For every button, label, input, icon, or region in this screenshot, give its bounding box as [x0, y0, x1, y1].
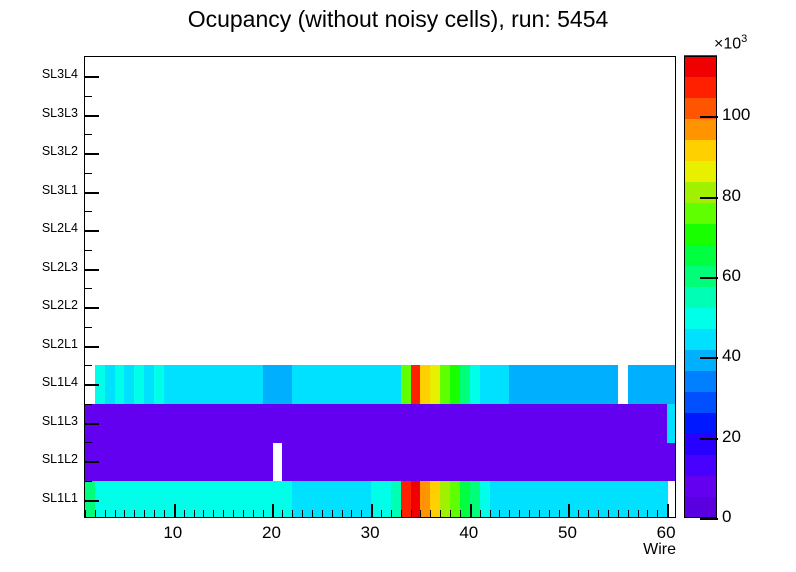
- y-axis-label-sl2l4: SL2L4: [42, 221, 78, 235]
- y-axis-label-sl1l1: SL1L1: [42, 491, 78, 505]
- heatmap-cell: [184, 442, 194, 481]
- heatmap-cell: [144, 442, 154, 481]
- x-axis-tick-minor: [223, 510, 224, 517]
- y-axis-label-sl3l2: SL3L2: [42, 144, 78, 158]
- heatmap-cell: [203, 442, 213, 481]
- heatmap-cell: [312, 481, 322, 519]
- heatmap-cell: [164, 404, 174, 443]
- heatmap-cell: [401, 481, 411, 519]
- x-axis-tick-minor: [440, 510, 441, 517]
- heatmap-cell: [480, 404, 490, 443]
- color-scale-tick-label: 20: [722, 427, 741, 447]
- heatmap-cell: [351, 481, 361, 519]
- heatmap-cell: [568, 404, 578, 443]
- x-axis-tick-minor: [460, 510, 461, 517]
- heatmap-cell: [223, 442, 233, 481]
- heatmap-cell: [105, 404, 115, 443]
- x-axis-tick-minor: [559, 510, 560, 517]
- x-axis-tick-minor: [529, 510, 530, 517]
- y-axis-tick: [85, 269, 99, 271]
- y-axis-tick-minor: [85, 250, 92, 251]
- x-axis-tick-minor: [312, 510, 313, 517]
- x-axis-tick-minor: [598, 510, 599, 517]
- heatmap-cell: [460, 442, 470, 481]
- x-axis-tick-major: [470, 504, 472, 517]
- heatmap-cell: [105, 481, 115, 519]
- x-axis-tick-label: 20: [246, 523, 296, 543]
- heatmap-cell: [440, 481, 450, 519]
- heatmap-cell: [332, 442, 342, 481]
- color-scale-band: [684, 433, 717, 455]
- heatmap-cell: [332, 365, 342, 404]
- x-axis-tick-minor: [95, 510, 96, 517]
- color-scale-band: [684, 223, 717, 245]
- x-axis-tick-minor: [647, 510, 648, 517]
- heatmap-cell: [460, 481, 470, 519]
- y-axis-tick: [85, 192, 99, 194]
- heatmap-cells: [85, 57, 675, 517]
- heatmap-cell: [667, 442, 676, 481]
- heatmap-cell: [351, 442, 361, 481]
- heatmap-cell: [164, 365, 174, 404]
- y-axis-label-sl2l2: SL2L2: [42, 298, 78, 312]
- x-axis-tick-label: 40: [444, 523, 494, 543]
- heatmap-cell: [371, 365, 381, 404]
- x-axis-tick-minor: [430, 510, 431, 517]
- color-scale-band: [684, 349, 717, 371]
- heatmap-cell: [519, 442, 529, 481]
- heatmap-cell: [568, 442, 578, 481]
- heatmap-cell: [144, 481, 154, 519]
- heatmap-cell: [608, 442, 618, 481]
- heatmap-cell: [203, 365, 213, 404]
- y-axis-tick-minor: [85, 288, 92, 289]
- y-axis-label-sl3l4: SL3L4: [42, 67, 78, 81]
- x-axis-tick-major: [174, 504, 176, 517]
- x-axis-tick-minor: [608, 510, 609, 517]
- x-axis-tick-label: 30: [345, 523, 395, 543]
- color-scale-band: [684, 370, 717, 392]
- x-axis-tick-minor: [342, 510, 343, 517]
- y-axis-tick-minor: [85, 365, 92, 366]
- heatmap-cell: [519, 404, 529, 443]
- heatmap-cell: [549, 365, 559, 404]
- y-axis-tick-minor: [85, 442, 92, 443]
- color-scale-band: [684, 412, 717, 434]
- color-scale-tick: [700, 197, 718, 199]
- heatmap-cell: [401, 404, 411, 443]
- plot-frame[interactable]: [84, 56, 676, 518]
- heatmap-cell: [667, 365, 676, 404]
- x-axis-tick-minor: [578, 510, 579, 517]
- heatmap-cell: [480, 365, 490, 404]
- heatmap-cell: [499, 365, 509, 404]
- color-scale-band: [684, 391, 717, 413]
- heatmap-cell: [440, 404, 450, 443]
- y-axis-label-sl2l1: SL2L1: [42, 337, 78, 351]
- y-axis-tick-minor: [85, 211, 92, 212]
- heatmap-cell: [549, 481, 559, 519]
- color-scale-tick-label: 100: [722, 105, 750, 125]
- x-axis-tick-minor: [115, 510, 116, 517]
- heatmap-cell: [519, 481, 529, 519]
- heatmap-cell: [519, 365, 529, 404]
- x-axis-tick-minor: [154, 510, 155, 517]
- x-axis-tick-minor: [203, 510, 204, 517]
- heatmap-cell: [263, 442, 273, 481]
- x-axis-tick-minor: [401, 510, 402, 517]
- y-axis-tick: [85, 461, 99, 463]
- heatmap-cell: [203, 404, 213, 443]
- color-scale-band: [684, 160, 717, 182]
- heatmap-cell: [588, 442, 598, 481]
- color-scale-exponent: ×103: [714, 33, 747, 53]
- x-axis-tick-minor: [243, 510, 244, 517]
- x-axis-tick-minor: [549, 510, 550, 517]
- color-scale-tick-label: 40: [722, 346, 741, 366]
- x-axis-tick-minor: [450, 510, 451, 517]
- heatmap-cell: [480, 442, 490, 481]
- x-axis-tick-minor: [213, 510, 214, 517]
- y-axis-tick: [85, 423, 99, 425]
- heatmap-cell: [667, 404, 676, 443]
- x-axis-tick-minor: [85, 510, 86, 517]
- x-axis-tick-major: [667, 504, 669, 517]
- heatmap-cell: [105, 365, 115, 404]
- heatmap-cell: [420, 481, 430, 519]
- heatmap-cell: [312, 404, 322, 443]
- heatmap-cell: [253, 404, 263, 443]
- heatmap-cell: [144, 365, 154, 404]
- heatmap-cell: [568, 365, 578, 404]
- heatmap-cell: [420, 404, 430, 443]
- x-axis-tick-minor: [233, 510, 234, 517]
- x-axis-tick-minor: [351, 510, 352, 517]
- y-axis-tick: [85, 346, 99, 348]
- x-axis-tick-minor: [490, 510, 491, 517]
- heatmap-cell: [332, 481, 342, 519]
- color-scale-band: [684, 55, 717, 77]
- heatmap-cell: [371, 442, 381, 481]
- y-axis-tick-minor: [85, 173, 92, 174]
- heatmap-cell: [480, 481, 490, 519]
- heatmap-cell: [420, 365, 430, 404]
- heatmap-cell: [647, 365, 657, 404]
- x-axis-tick-minor: [134, 510, 135, 517]
- color-scale-tick-label: 60: [722, 266, 741, 286]
- heatmap-cell: [223, 404, 233, 443]
- heatmap-cell: [647, 481, 657, 519]
- x-axis-tick-minor: [332, 510, 333, 517]
- color-scale-bar[interactable]: [684, 56, 717, 518]
- heatmap-cell: [499, 442, 509, 481]
- y-axis-tick: [85, 76, 99, 78]
- heatmap-cell: [272, 404, 282, 443]
- y-axis-tick: [85, 500, 99, 502]
- color-scale-band: [684, 118, 717, 140]
- heatmap-cell: [184, 365, 194, 404]
- heatmap-cell: [440, 442, 450, 481]
- heatmap-cell: [608, 404, 618, 443]
- x-axis-tick-label: 50: [542, 523, 592, 543]
- x-axis-tick-minor: [509, 510, 510, 517]
- color-scale-band: [684, 181, 717, 203]
- heatmap-cell: [272, 365, 282, 404]
- heatmap-cell: [499, 404, 509, 443]
- heatmap-cell: [292, 442, 302, 481]
- x-axis-tick-minor: [361, 510, 362, 517]
- x-axis-tick-minor: [302, 510, 303, 517]
- y-axis-tick: [85, 230, 99, 232]
- y-axis-tick-minor: [85, 134, 92, 135]
- heatmap-cell: [124, 442, 134, 481]
- color-scale-band: [684, 202, 717, 224]
- color-scale-exponent-power: 3: [741, 33, 747, 45]
- heatmap-cell: [253, 481, 263, 519]
- y-axis-label-sl3l1: SL3L1: [42, 183, 78, 197]
- x-axis-tick-major: [272, 504, 274, 517]
- heatmap-cell: [460, 404, 470, 443]
- heatmap-cell: [312, 365, 322, 404]
- x-axis-tick-label: 10: [148, 523, 198, 543]
- heatmap-cell: [588, 365, 598, 404]
- heatmap-cell: [184, 404, 194, 443]
- heatmap-cell: [332, 404, 342, 443]
- y-axis-label-sl1l3: SL1L3: [42, 414, 78, 428]
- color-scale-band: [684, 475, 717, 497]
- x-axis-tick-minor: [480, 510, 481, 517]
- color-scale-tick: [700, 438, 718, 440]
- x-axis-tick-minor: [657, 510, 658, 517]
- heatmap-cell: [499, 481, 509, 519]
- heatmap-cell: [253, 365, 263, 404]
- color-scale-band: [684, 496, 717, 518]
- heatmap-cell: [292, 481, 302, 519]
- heatmap-cell: [105, 442, 115, 481]
- heatmap-cell: [549, 442, 559, 481]
- x-axis-tick-minor: [263, 510, 264, 517]
- y-axis-tick-minor: [85, 404, 92, 405]
- color-scale-tick-label: 0: [722, 507, 731, 527]
- x-axis-tick-minor: [499, 510, 500, 517]
- heatmap-cell: [608, 481, 618, 519]
- x-axis-tick-major: [371, 504, 373, 517]
- heatmap-cell: [628, 442, 638, 481]
- y-axis-tick: [85, 115, 99, 117]
- y-axis-tick-minor: [85, 481, 92, 482]
- color-scale-band: [684, 244, 717, 266]
- heatmap-cell: [124, 365, 134, 404]
- color-scale-band: [684, 328, 717, 350]
- color-scale-tick: [700, 357, 718, 359]
- color-scale-tick-label: 80: [722, 186, 741, 206]
- heatmap-cell: [549, 404, 559, 443]
- heatmap-cell: [628, 365, 638, 404]
- color-scale-band: [684, 454, 717, 476]
- y-axis-tick-minor: [85, 96, 92, 97]
- x-axis-tick-minor: [539, 510, 540, 517]
- heatmap-cell: [420, 442, 430, 481]
- x-axis-tick-label: 60: [641, 523, 691, 543]
- heatmap-cell: [588, 404, 598, 443]
- heatmap-cell: [588, 481, 598, 519]
- heatmap-cell: [223, 481, 233, 519]
- heatmap-cell: [628, 404, 638, 443]
- heatmap-cell: [184, 481, 194, 519]
- x-axis-tick-minor: [411, 510, 412, 517]
- heatmap-cell: [292, 404, 302, 443]
- x-axis-tick-major: [568, 504, 570, 517]
- heatmap-cell: [608, 365, 618, 404]
- x-axis-tick-minor: [519, 510, 520, 517]
- y-axis-label-sl2l3: SL2L3: [42, 260, 78, 274]
- x-axis-tick-minor: [124, 510, 125, 517]
- color-scale-band: [684, 139, 717, 161]
- heatmap-cell: [223, 365, 233, 404]
- heatmap-cell: [401, 442, 411, 481]
- heatmap-cell: [401, 365, 411, 404]
- color-scale-tick: [700, 277, 718, 279]
- heatmap-cell: [164, 481, 174, 519]
- x-axis-tick-minor: [391, 510, 392, 517]
- heatmap-cell: [312, 442, 322, 481]
- heatmap-cell: [203, 481, 213, 519]
- y-axis-label-sl1l4: SL1L4: [42, 375, 78, 389]
- x-axis-title: Wire: [0, 541, 676, 559]
- heatmap-cell: [628, 481, 638, 519]
- x-axis-tick-minor: [144, 510, 145, 517]
- x-axis-tick-minor: [282, 510, 283, 517]
- heatmap-cell: [144, 404, 154, 443]
- y-axis-tick: [85, 153, 99, 155]
- chart-title: Ocupancy (without noisy cells), run: 545…: [0, 6, 796, 33]
- x-axis-tick-minor: [105, 510, 106, 517]
- heatmap-cell: [647, 442, 657, 481]
- y-axis-tick: [85, 384, 99, 386]
- color-scale-tick: [700, 518, 718, 520]
- heatmap-cell: [371, 404, 381, 443]
- x-axis-tick-minor: [253, 510, 254, 517]
- root-canvas: Ocupancy (without noisy cells), run: 545…: [0, 0, 796, 572]
- color-scale-exponent-base: ×10: [714, 35, 741, 52]
- color-scale-band: [684, 76, 717, 98]
- color-scale-band: [684, 307, 717, 329]
- y-axis-tick-minor: [85, 327, 92, 328]
- heatmap-cell: [292, 365, 302, 404]
- x-axis-tick-minor: [184, 510, 185, 517]
- heatmap-cell: [440, 365, 450, 404]
- heatmap-cell: [164, 442, 174, 481]
- heatmap-cell: [351, 404, 361, 443]
- x-axis-tick-minor: [420, 510, 421, 517]
- color-scale-tick: [700, 116, 718, 118]
- x-axis-tick-minor: [194, 510, 195, 517]
- y-axis-label-sl3l3: SL3L3: [42, 106, 78, 120]
- x-axis-tick-minor: [322, 510, 323, 517]
- x-axis-tick-minor: [292, 510, 293, 517]
- heatmap-cell: [253, 442, 263, 481]
- x-axis-tick-minor: [618, 510, 619, 517]
- x-axis-tick-minor: [588, 510, 589, 517]
- heatmap-cell: [351, 365, 361, 404]
- heatmap-cell: [124, 404, 134, 443]
- x-axis-tick-minor: [381, 510, 382, 517]
- heatmap-cell: [460, 365, 470, 404]
- color-scale-band: [684, 286, 717, 308]
- y-axis-label-sl1l2: SL1L2: [42, 452, 78, 466]
- x-axis-tick-minor: [628, 510, 629, 517]
- x-axis-tick-minor: [638, 510, 639, 517]
- heatmap-cell: [124, 481, 134, 519]
- y-axis-tick: [85, 307, 99, 309]
- heatmap-cell: [647, 404, 657, 443]
- x-axis-tick-minor: [164, 510, 165, 517]
